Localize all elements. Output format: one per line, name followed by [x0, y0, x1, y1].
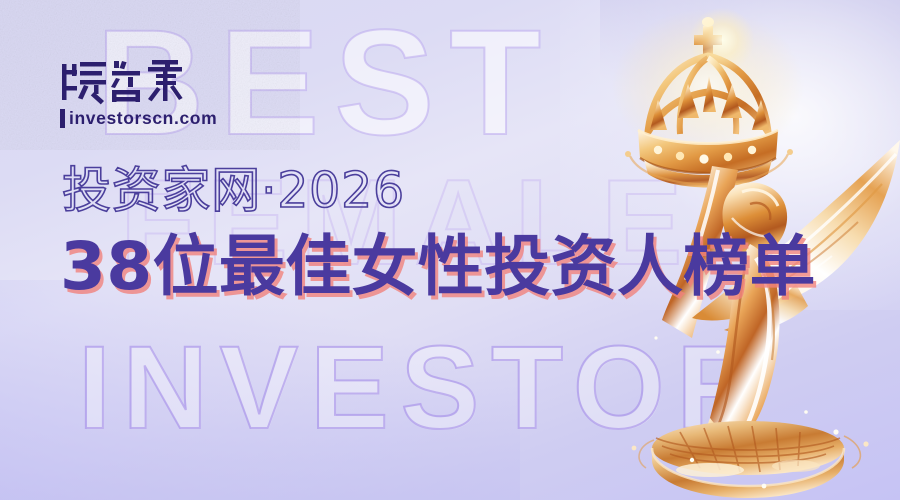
logo-accent-bar — [60, 109, 65, 128]
logo-domain-text: investorscn.com — [69, 109, 217, 128]
crown-graphic — [625, 17, 793, 188]
sparkles — [654, 336, 838, 488]
light-flare-icon — [690, 8, 754, 72]
background-tint-bottom-left — [0, 280, 520, 500]
poster-subtitle: 投资家网·2026 — [62, 166, 405, 215]
poster-canvas: BEST FEMALE INVESTOR — [0, 0, 900, 500]
logo-wordmark-icon — [60, 56, 228, 108]
watermark-investor: INVESTOR — [78, 320, 773, 456]
site-logo[interactable]: investorscn.com — [60, 56, 228, 128]
poster-headline: 38位最佳女性投资人榜单 — [60, 234, 816, 300]
background-tint-top-right — [600, 0, 900, 160]
trophy-base — [632, 421, 869, 498]
